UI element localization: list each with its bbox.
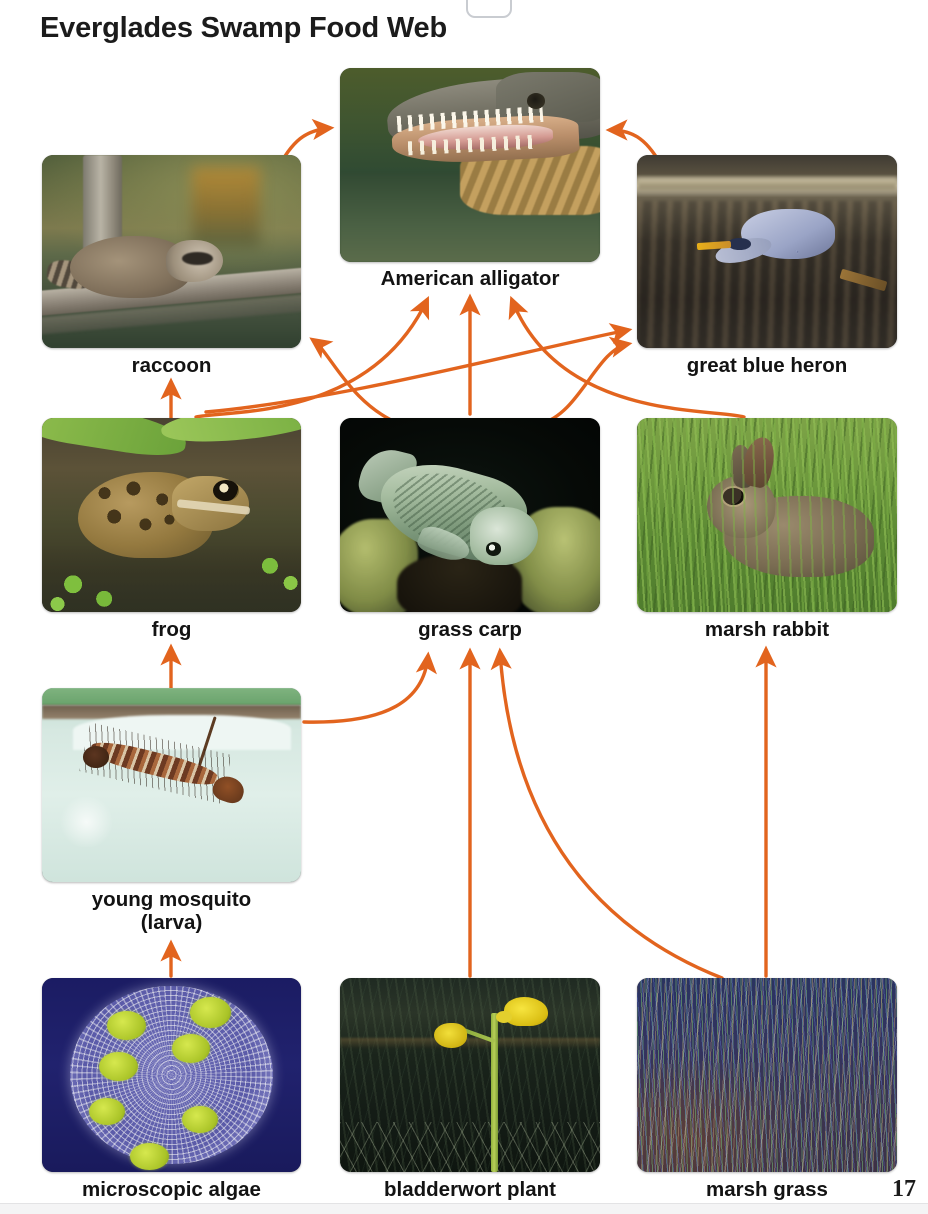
bladderwort-plant-label: bladderwort plant	[300, 1179, 640, 1202]
great-blue-heron-photo	[637, 155, 897, 348]
arrow-carp-to-raccoon	[313, 340, 400, 424]
great-blue-heron-label: great blue heron	[597, 355, 928, 378]
frog-label: frog	[2, 619, 341, 642]
microscopic-algae-photo	[42, 978, 301, 1172]
node-marsh-grass[interactable]: marsh grass	[637, 978, 897, 1172]
marsh-grass-photo	[637, 978, 897, 1172]
grass-carp-photo	[340, 418, 600, 612]
node-young-mosquito[interactable]: young mosquito (larva)	[42, 688, 301, 882]
marsh-rabbit-label: marsh rabbit	[597, 619, 928, 642]
node-microscopic-algae[interactable]: microscopic algae	[42, 978, 301, 1172]
microscopic-algae-label: microscopic algae	[2, 1179, 341, 1202]
node-american-alligator[interactable]: American alligator	[340, 68, 600, 262]
arrow-marshgrass-to-carp	[500, 652, 722, 978]
food-web-page: Everglades Swamp Food Web	[0, 0, 928, 1214]
frog-photo	[42, 418, 301, 612]
marsh-grass-label: marsh grass	[597, 1179, 928, 1202]
browser-pill-control[interactable]	[466, 0, 512, 18]
node-raccoon[interactable]: raccoon	[42, 155, 301, 348]
raccoon-photo	[42, 155, 301, 348]
grass-carp-label: grass carp	[300, 619, 640, 642]
raccoon-label: raccoon	[2, 355, 341, 378]
bladderwort-plant-photo	[340, 978, 600, 1172]
young-mosquito-label: young mosquito (larva)	[2, 889, 341, 935]
node-grass-carp[interactable]: grass carp	[340, 418, 600, 612]
page-title: Everglades Swamp Food Web	[40, 12, 447, 45]
american-alligator-photo	[340, 68, 600, 262]
node-frog[interactable]: frog	[42, 418, 301, 612]
american-alligator-label: American alligator	[300, 268, 640, 291]
node-bladderwort-plant[interactable]: bladderwort plant	[340, 978, 600, 1172]
node-marsh-rabbit[interactable]: marsh rabbit	[637, 418, 897, 612]
page-number: 17	[892, 1176, 916, 1203]
arrow-larva-to-carp	[304, 656, 428, 722]
node-great-blue-heron[interactable]: great blue heron	[637, 155, 897, 348]
young-mosquito-photo	[42, 688, 301, 882]
page-bottom-edge	[0, 1203, 928, 1214]
marsh-rabbit-photo	[637, 418, 897, 612]
